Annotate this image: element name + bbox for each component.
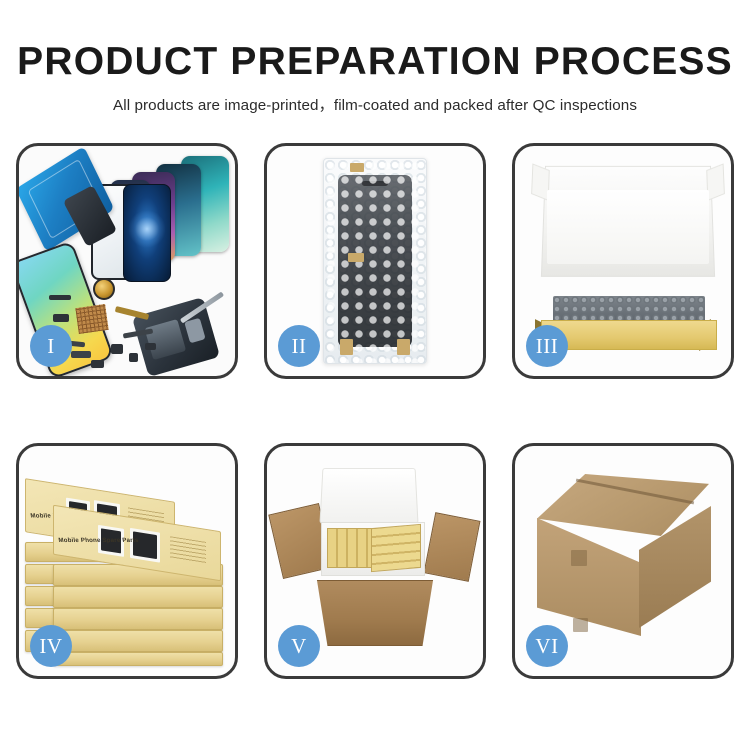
step-panel-6: VI [512, 443, 734, 679]
step-badge-2: II [278, 325, 320, 367]
stacked-box [53, 652, 223, 666]
outer-carton-body [309, 580, 441, 646]
phone-internal-housing [132, 297, 220, 376]
page-subtitle: All products are image-printed，film-coat… [0, 93, 750, 115]
carton-flap-right [424, 512, 481, 582]
small-component-part [145, 343, 156, 350]
packing-tape [397, 339, 410, 355]
foam-lid [319, 468, 418, 524]
step-panel-4: Mobile Phone Spare Parts Mobile Phone Sp… [16, 443, 238, 679]
step-badge-4: IV [30, 625, 72, 667]
carton-tape-patch [573, 618, 588, 632]
step-panel-3: III [512, 143, 734, 379]
lcd-screen-assembly [123, 184, 171, 282]
step-badge-3: III [526, 325, 568, 367]
stacked-box [53, 630, 223, 652]
label-spec-lines [170, 536, 206, 564]
packing-tape [340, 339, 353, 355]
white-foam-sheet [547, 190, 709, 264]
step-panel-2: II [264, 143, 486, 379]
packing-tape [350, 163, 364, 172]
small-component-part [129, 353, 138, 362]
small-component-part [49, 295, 71, 300]
box-label-text: Mobile Phone Spare Parts [58, 537, 139, 544]
carton-tape-patch [571, 550, 587, 566]
step-badge-6: VI [526, 625, 568, 667]
speaker-coil-part [93, 278, 115, 300]
stacked-box [53, 586, 223, 608]
screw-chart-mesh [75, 304, 108, 334]
bubble-wrap-package [323, 158, 427, 364]
small-component-part [91, 360, 104, 368]
header: PRODUCT PREPARATION PROCESS All products… [0, 40, 750, 115]
small-component-part [111, 344, 123, 354]
process-steps-grid: I II [16, 143, 734, 679]
bubble-texture-overlay [324, 159, 426, 363]
inner-boxes-loaded [371, 524, 421, 572]
step-badge-5: V [278, 625, 320, 667]
step-panel-5: V [264, 443, 486, 679]
step-badge-1: I [30, 325, 72, 367]
small-component-part [53, 314, 69, 322]
carton-front-face [537, 518, 641, 636]
flex-cable-part [71, 351, 91, 358]
label-product-photo [133, 531, 157, 559]
page-title: PRODUCT PREPARATION PROCESS [0, 40, 750, 84]
flex-cable-part [115, 306, 149, 320]
infographic-page: PRODUCT PREPARATION PROCESS All products… [0, 0, 750, 750]
step-panel-1: I [16, 143, 238, 379]
packing-tape [348, 253, 364, 262]
stacked-box [53, 608, 223, 630]
